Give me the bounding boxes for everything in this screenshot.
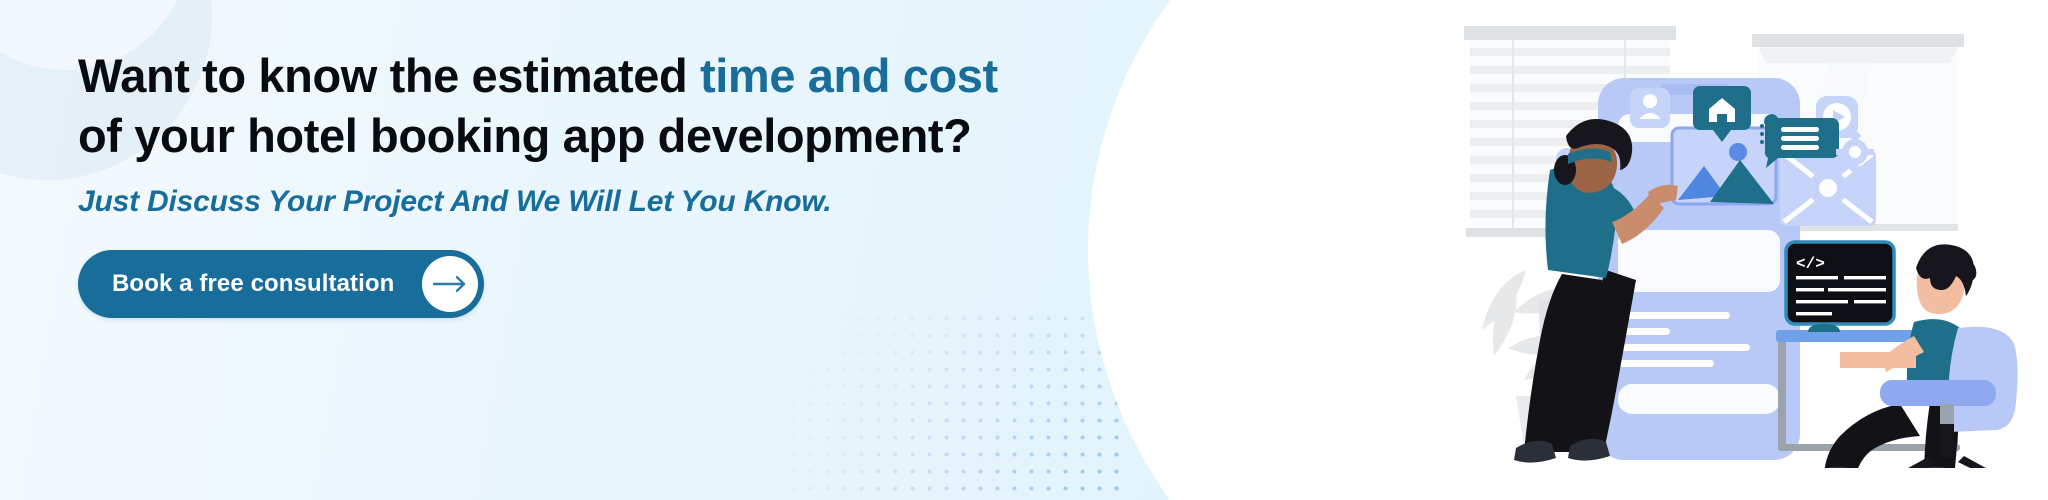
page-title: Want to know the estimated time and cost… [78,46,1098,166]
cta-banner: Want to know the estimated time and cost… [0,0,2048,500]
hero-illustration: </> [1428,0,2048,500]
headline-plain-text: Want to know the estimated [78,49,700,102]
svg-text:</>: </> [1796,255,1825,273]
cta-button-label: Book a free consultation [112,270,422,298]
avatar-icon [1630,88,1670,128]
headline-line-1: Want to know the estimated time and cost [78,49,998,102]
headline-line-2: of your hotel booking app development? [78,109,971,162]
halftone-dot-pattern [700,310,1130,500]
book-consultation-button[interactable]: Book a free consultation [78,250,484,318]
arrow-right-icon [422,256,478,312]
headline-accent-text: time and cost [700,49,998,102]
image-placeholder-card [1672,128,1776,204]
subheadline: Just Discuss Your Project And We Will Le… [78,185,1098,219]
banner-content: Want to know the estimated time and cost… [78,46,1098,318]
code-monitor: </> [1786,242,1894,332]
